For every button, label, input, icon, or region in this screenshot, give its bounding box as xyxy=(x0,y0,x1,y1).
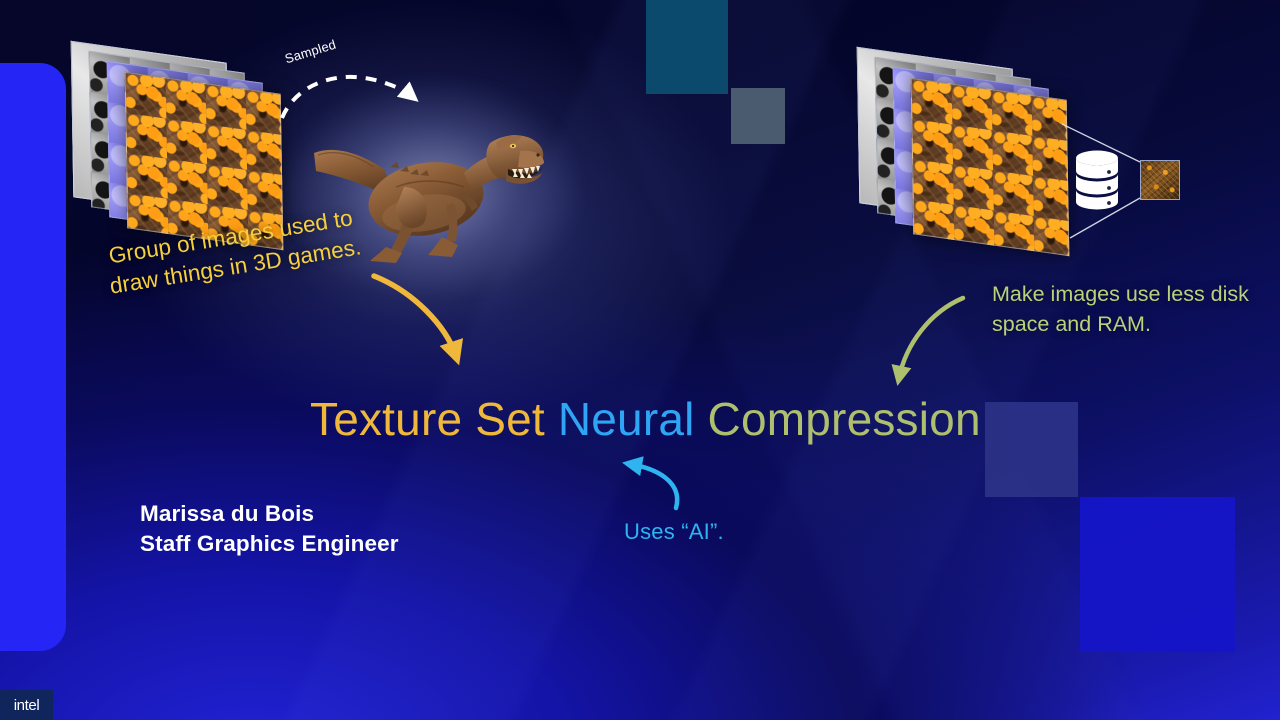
intel-logo-text: intel xyxy=(14,697,40,714)
curved-arrow-up-left-cyan-icon xyxy=(630,464,677,508)
curved-arrow-down-yellow-icon xyxy=(374,276,456,356)
title-part-neural: Neural xyxy=(558,393,708,445)
annotation-vectors xyxy=(0,0,1280,720)
title-part-compression: Compression xyxy=(708,393,981,445)
speaker-role: Staff Graphics Engineer xyxy=(140,529,399,559)
title-part-texture-set: Texture Set xyxy=(310,393,558,445)
presentation-slide: Sampled Group of images used to draw thi… xyxy=(0,0,1280,720)
intel-logo: intel xyxy=(0,690,53,720)
annotation-right-text: Make images use less disk space and RAM. xyxy=(992,279,1254,339)
dashed-curved-arrow-icon xyxy=(282,77,414,118)
annotation-ai-text: Uses “AI”. xyxy=(624,519,724,545)
curved-arrow-down-green-icon xyxy=(899,298,963,378)
speaker-info: Marissa du Bois Staff Graphics Engineer xyxy=(140,499,399,558)
speaker-name: Marissa du Bois xyxy=(140,499,399,529)
page-title: Texture Set Neural Compression xyxy=(310,392,1010,446)
database-cylinder-icon xyxy=(1076,151,1118,210)
compressed-texture-thumbnail xyxy=(1140,160,1180,200)
